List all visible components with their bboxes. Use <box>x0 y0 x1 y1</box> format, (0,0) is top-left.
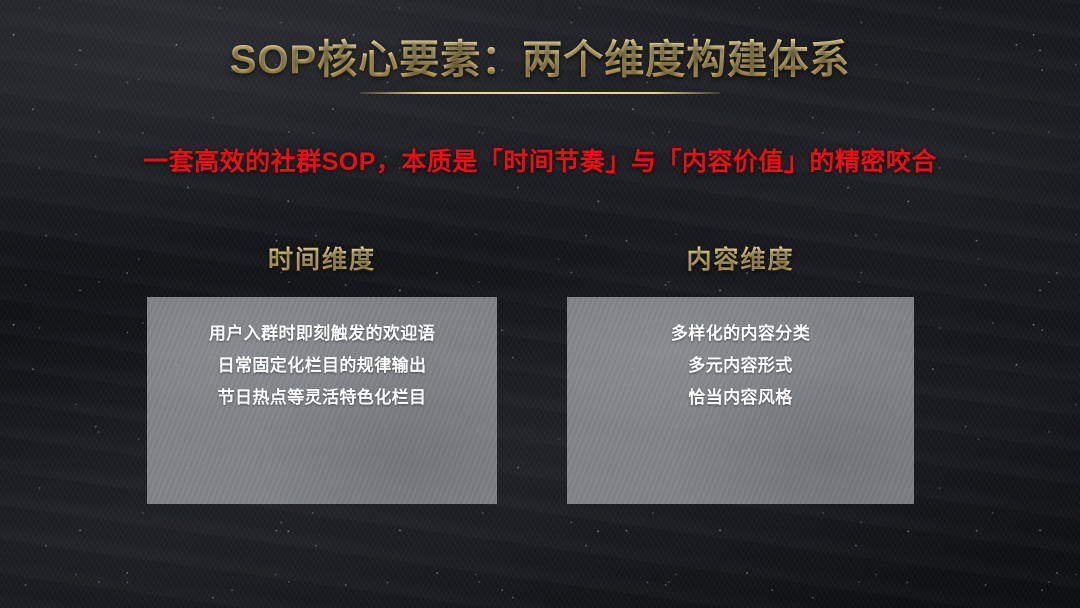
list-item: 多元内容形式 <box>567 350 914 382</box>
column-content-dimension: 内容维度 多样化的内容分类 多元内容形式 恰当内容风格 <box>567 240 914 504</box>
list-item: 用户入群时即刻触发的欢迎语 <box>147 318 497 350</box>
panel-time-items: 用户入群时即刻触发的欢迎语 日常固定化栏目的规律输出 节日热点等灵活特色化栏目 <box>147 318 497 414</box>
column-heading-content: 内容维度 <box>567 240 914 276</box>
list-item: 恰当内容风格 <box>567 382 914 414</box>
panel-time-dimension: 用户入群时即刻触发的欢迎语 日常固定化栏目的规律输出 节日热点等灵活特色化栏目 <box>147 297 497 504</box>
dimension-columns: 时间维度 用户入群时即刻触发的欢迎语 日常固定化栏目的规律输出 节日热点等灵活特… <box>0 0 1080 608</box>
slide-root: SOP核心要素：两个维度构建体系 一套高效的社群SOP，本质是「时间节奏」与「内… <box>0 0 1080 608</box>
list-item: 日常固定化栏目的规律输出 <box>147 350 497 382</box>
panel-content-dimension: 多样化的内容分类 多元内容形式 恰当内容风格 <box>567 297 914 504</box>
column-time-dimension: 时间维度 用户入群时即刻触发的欢迎语 日常固定化栏目的规律输出 节日热点等灵活特… <box>147 240 497 504</box>
list-item: 节日热点等灵活特色化栏目 <box>147 382 497 414</box>
list-item: 多样化的内容分类 <box>567 318 914 350</box>
column-heading-time: 时间维度 <box>147 240 497 276</box>
panel-content-items: 多样化的内容分类 多元内容形式 恰当内容风格 <box>567 318 914 414</box>
